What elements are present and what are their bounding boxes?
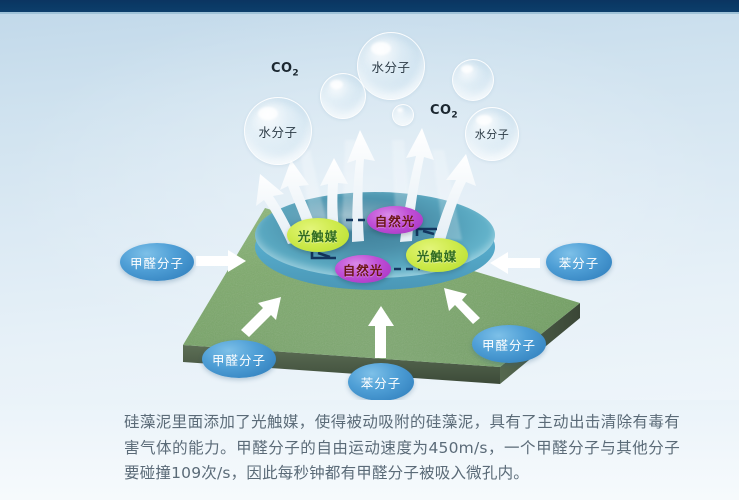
page-root: 光触媒 光触媒 自然光 自然光 甲醛分子 苯分子 甲醛分子 苯分子 甲醛分子 水…	[0, 0, 739, 500]
bubble-plain-mid	[320, 73, 366, 119]
bubble-label: 水分子	[258, 122, 297, 141]
catalyst-pill-right: 光触媒	[406, 238, 468, 272]
bubble-water-right: 水分子	[465, 107, 519, 161]
top-navy-bar	[0, 0, 739, 12]
co2-text: CO	[271, 61, 292, 76]
molecule-label-text: 苯分子	[361, 373, 402, 392]
caption-paragraph: 硅藻泥里面添加了光触媒，使得被动吸附的硅藻泥，具有了主动出击清除有毒有害气体的能…	[124, 410, 680, 487]
co2-subscript: 2	[451, 111, 458, 121]
molecule-label-benzene-bottom: 苯分子	[348, 363, 414, 401]
molecule-label-text: 苯分子	[559, 253, 600, 272]
light-pill-bottom: 自然光	[335, 255, 391, 283]
bubble-water-left: 水分子	[244, 97, 312, 165]
molecule-label-text: 甲醛分子	[482, 335, 536, 354]
catalyst-pill-left-label: 光触媒	[298, 226, 339, 245]
co2-label-left: CO2	[271, 61, 299, 79]
bubble-label: 水分子	[371, 57, 410, 76]
co2-subscript: 2	[292, 69, 299, 79]
molecule-label-formaldehyde-bottom-left: 甲醛分子	[202, 340, 276, 378]
light-pill-top: 自然光	[367, 206, 423, 234]
catalyst-pill-left: 光触媒	[287, 218, 349, 252]
bubble-label: 水分子	[475, 126, 510, 142]
co2-label-right: CO2	[430, 103, 458, 121]
catalyst-pill-right-label: 光触媒	[417, 246, 458, 265]
light-pill-bottom-label: 自然光	[343, 260, 384, 279]
molecule-label-text: 甲醛分子	[212, 350, 266, 369]
co2-text: CO	[430, 103, 451, 118]
bubble-plain-small	[392, 104, 414, 126]
bubble-plain-upper-right	[452, 59, 494, 101]
light-pill-top-label: 自然光	[375, 211, 416, 230]
molecule-label-benzene-right: 苯分子	[546, 243, 612, 281]
bubble-water-top-center: 水分子	[357, 32, 425, 100]
molecule-label-formaldehyde-bottom-right: 甲醛分子	[472, 325, 546, 363]
molecule-label-formaldehyde-left: 甲醛分子	[120, 243, 194, 281]
molecule-label-text: 甲醛分子	[130, 253, 184, 272]
